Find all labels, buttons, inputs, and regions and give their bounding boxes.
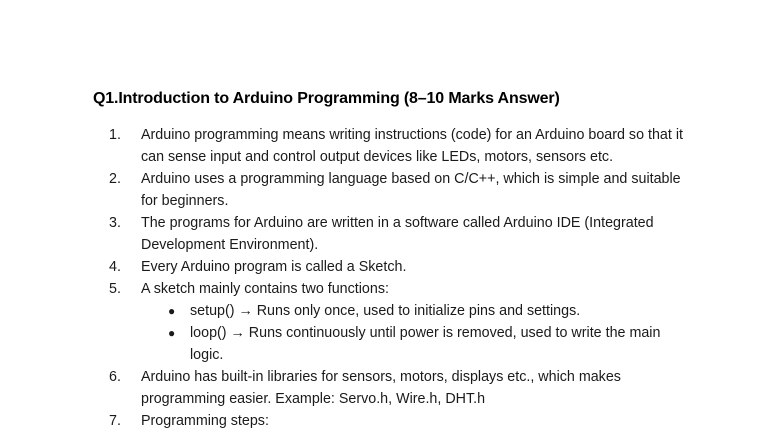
- nested-list-item: ● loop() → Runs continuously until power…: [141, 322, 696, 366]
- list-marker: 6.: [109, 366, 135, 388]
- list-item-text: Every Arduino program is called a Sketch…: [141, 256, 696, 278]
- list-marker: 1.: [109, 124, 135, 146]
- nested-list-item-text: loop() → Runs continuously until power i…: [190, 322, 696, 366]
- list-item: 4. Every Arduino program is called a Ske…: [93, 256, 696, 278]
- list-item-text: Arduino uses a programming language base…: [141, 168, 696, 212]
- list-item-text: The programs for Arduino are written in …: [141, 212, 696, 256]
- numbered-list: 1. Arduino programming means writing ins…: [93, 124, 696, 432]
- list-item: 5. A sketch mainly contains two function…: [93, 278, 696, 366]
- bullet-icon: ●: [168, 300, 175, 322]
- nested-list-item: ● setup() → Runs only once, used to init…: [141, 300, 696, 322]
- list-marker: 3.: [109, 212, 135, 234]
- document-body: Q1.Introduction to Arduino Programming (…: [0, 88, 784, 432]
- document-page: Q1.Introduction to Arduino Programming (…: [0, 0, 784, 441]
- list-item-text: Arduino programming means writing instru…: [141, 124, 696, 168]
- list-marker: 5.: [109, 278, 135, 300]
- list-item: 2. Arduino uses a programming language b…: [93, 168, 696, 212]
- list-item: 6. Arduino has built-in libraries for se…: [93, 366, 696, 410]
- list-item-text: A sketch mainly contains two functions:: [141, 278, 696, 300]
- list-item: 3. The programs for Arduino are written …: [93, 212, 696, 256]
- list-item: 1. Arduino programming means writing ins…: [93, 124, 696, 168]
- list-marker: 7.: [109, 410, 135, 432]
- list-marker: 4.: [109, 256, 135, 278]
- page-title: Q1.Introduction to Arduino Programming (…: [93, 88, 696, 110]
- list-item-text: Programming steps:: [141, 410, 696, 432]
- bullet-icon: ●: [168, 322, 175, 344]
- list-marker: 2.: [109, 168, 135, 190]
- list-item: 7. Programming steps:: [93, 410, 696, 432]
- nested-list-item-text: setup() → Runs only once, used to initia…: [190, 300, 696, 322]
- nested-bullet-list: ● setup() → Runs only once, used to init…: [141, 300, 696, 366]
- list-item-text: Arduino has built-in libraries for senso…: [141, 366, 696, 410]
